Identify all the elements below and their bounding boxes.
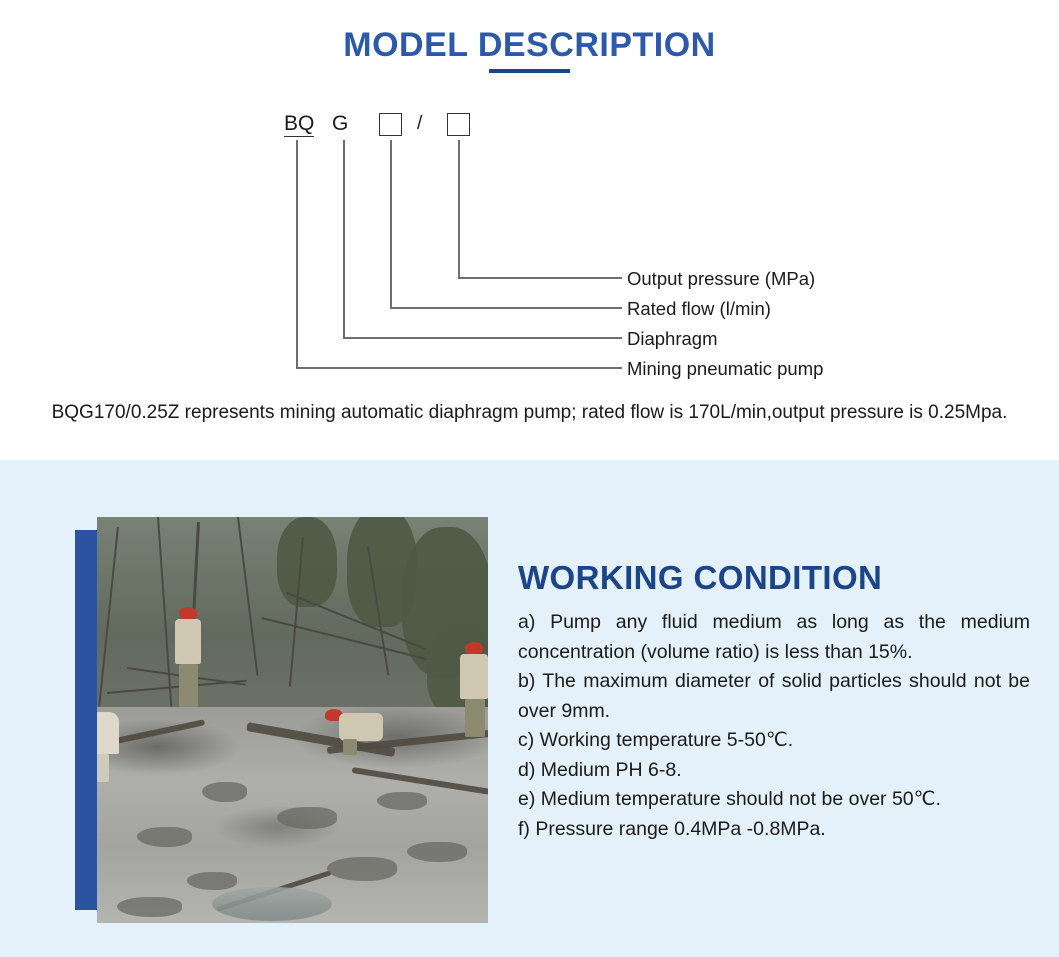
leader-line-vertical-output-pressure — [458, 140, 460, 278]
condition-item-a: a) Pump any fluid medium as long as the … — [518, 608, 1030, 667]
condition-item-e: e) Medium temperature should not be over… — [518, 785, 1030, 815]
photo-mud-clod — [187, 872, 237, 890]
photo-worker — [457, 642, 488, 737]
condition-item-b: b) The maximum diameter of solid particl… — [518, 667, 1030, 726]
photo-worker-legs — [343, 739, 357, 755]
photo-worker-legs — [465, 699, 485, 737]
leader-label-mining-pneumatic-pump: Mining pneumatic pump — [627, 360, 823, 379]
code-token-separator: / — [417, 114, 422, 133]
leader-line-vertical-mining-pneumatic-pump — [296, 140, 298, 368]
condition-item-c: c) Working temperature 5-50℃. — [518, 726, 1030, 756]
photo-worker-torso — [175, 619, 201, 664]
leader-line-vertical-diaphragm — [343, 140, 345, 338]
working-condition-list: a) Pump any fluid medium as long as the … — [518, 608, 1030, 844]
leader-line-horizontal-mining-pneumatic-pump — [296, 367, 622, 369]
photo-puddle — [212, 887, 332, 921]
photo-worker-torso — [97, 712, 119, 754]
leader-label-rated-flow: Rated flow (l/min) — [627, 300, 771, 319]
model-caption: BQG170/0.25Z represents mining automatic… — [0, 402, 1059, 424]
photo-worker-helmet — [179, 607, 197, 619]
leader-line-horizontal-output-pressure — [458, 277, 622, 279]
leader-label-output-pressure: Output pressure (MPa) — [627, 270, 815, 289]
leader-label-diaphragm: Diaphragm — [627, 330, 718, 349]
photo-worker-helmet — [465, 642, 483, 654]
title-underline — [489, 69, 570, 73]
photo-worker — [97, 712, 123, 782]
photo-mud-clod — [277, 807, 337, 829]
leader-line-horizontal-rated-flow — [390, 307, 622, 309]
photo-worker-torso — [460, 654, 488, 699]
photo-mud-clod — [202, 782, 247, 802]
condition-item-d: d) Medium PH 6-8. — [518, 756, 1030, 786]
code-box-output-pressure — [447, 113, 470, 136]
code-token-letter: G — [332, 113, 348, 134]
working-condition-photo — [97, 517, 488, 923]
photo-mud-clod — [407, 842, 467, 862]
working-condition-section: WORKING CONDITION a) Pump any fluid medi… — [0, 460, 1059, 957]
code-box-rated-flow — [379, 113, 402, 136]
photo-mud-clod — [377, 792, 427, 810]
working-condition-title: WORKING CONDITION — [518, 559, 882, 597]
photo-mud-clod — [117, 897, 182, 917]
photo-worker — [172, 607, 206, 707]
photo-worker-torso — [339, 713, 383, 741]
page-title: MODEL DESCRIPTION — [0, 26, 1059, 65]
photo-worker-legs — [97, 754, 109, 782]
leader-line-horizontal-diaphragm — [343, 337, 622, 339]
code-token-prefix: BQ — [284, 113, 314, 137]
model-description-section: MODEL DESCRIPTION BQ G / Output pressure… — [0, 0, 1059, 460]
photo-accent-bar — [75, 530, 99, 910]
photo-mud-clod — [137, 827, 192, 847]
photo-mud-clod — [327, 857, 397, 881]
photo-worker — [325, 707, 387, 755]
condition-item-f: f) Pressure range 0.4MPa -0.8MPa. — [518, 815, 1030, 845]
leader-line-vertical-rated-flow — [390, 140, 392, 308]
photo-worker-legs — [179, 664, 198, 707]
